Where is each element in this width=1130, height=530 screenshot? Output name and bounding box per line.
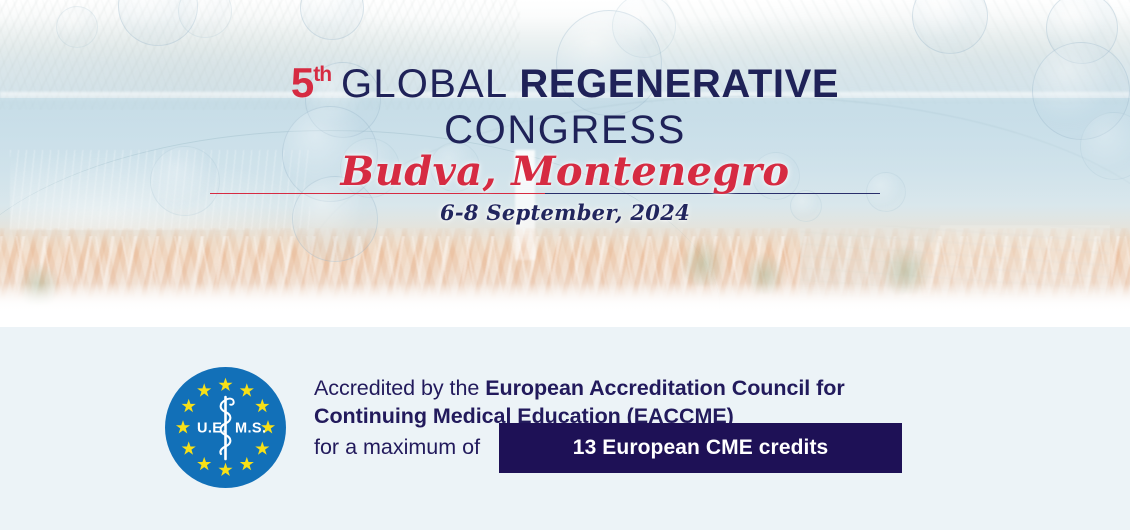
title-word-global: GLOBAL <box>341 62 508 106</box>
edition-suffix: th <box>313 63 331 86</box>
uems-logo: U.E. M.S. <box>165 367 286 488</box>
bubble-decoration <box>56 6 98 48</box>
maximum-credits-label: for a maximum of <box>314 437 480 459</box>
photo-citadel <box>800 225 1110 305</box>
title-word-regenerative: REGENERATIVE <box>519 62 839 106</box>
photo-tree <box>745 252 785 294</box>
uems-acronym-left: U.E. <box>197 421 227 437</box>
photo-tree <box>18 262 60 306</box>
photo-tree <box>880 244 932 294</box>
edition-number: 5 <box>291 59 313 106</box>
credits-row: for a maximum of 13 European CME credits <box>314 412 1014 484</box>
accreditation-statement-prefix: Accredited by the <box>314 376 485 400</box>
edition-ordinal: 5th <box>291 59 331 106</box>
event-banner: 5thGLOBALREGENERATIVE CONGRESS Budva, Mo… <box>0 0 1130 327</box>
accreditation-section: U.E. M.S. Accredited by the European Acc… <box>0 327 1130 530</box>
event-title-line-2: CONGRESS <box>0 110 1130 150</box>
event-location: Budva, Montenegro <box>0 152 1130 192</box>
cme-credits-badge: 13 European CME credits <box>499 423 902 473</box>
uems-acronym-right: M.S. <box>235 421 266 437</box>
photo-tree <box>680 238 726 286</box>
event-dates: 6-8 September, 2024 <box>0 202 1130 223</box>
event-title-line-1: 5thGLOBALREGENERATIVE <box>0 62 1130 104</box>
